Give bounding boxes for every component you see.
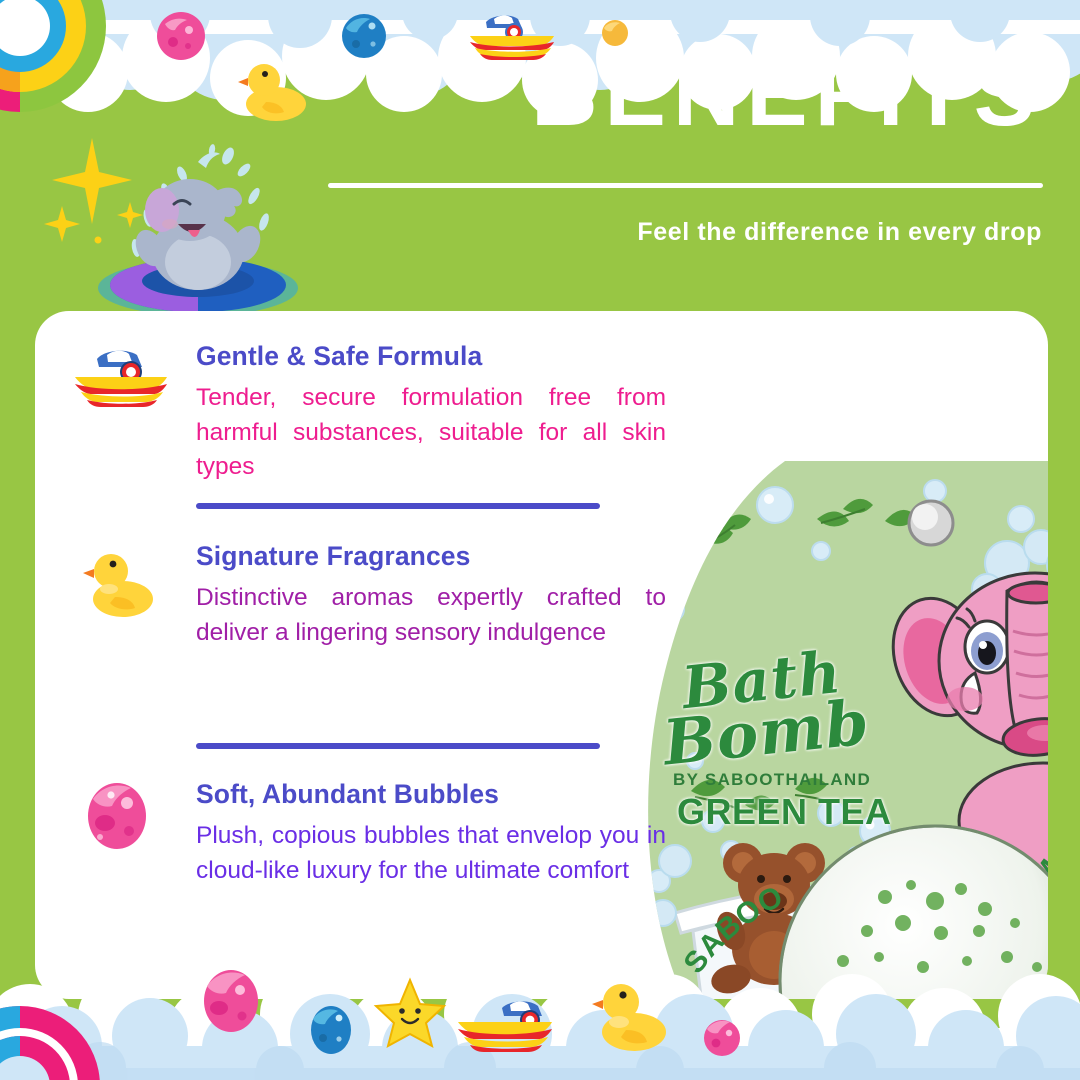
benefit-text-1: Tender, secure formulation free from har… xyxy=(196,381,666,485)
benefit-title-2: Signature Fragrances xyxy=(196,541,666,572)
pink-bath-bomb-icon xyxy=(85,779,185,859)
package-brand-by: BY SABOOTHAILAND xyxy=(673,770,871,790)
benefits-list: Gentle & Safe Formula Tender, secure for… xyxy=(35,311,695,999)
package-variant: GREEN TEA xyxy=(677,791,892,833)
benefit-title-3: Soft, Abundant Bubbles xyxy=(196,779,666,810)
rainbow-pool-ring-icon xyxy=(0,986,140,1080)
benefits-card: SABOO DMADE xyxy=(35,311,1048,999)
product-package-image: SABOO DMADE xyxy=(635,461,1048,999)
blue-bath-bomb-icon xyxy=(308,1005,354,1055)
bottom-cloud-band xyxy=(0,988,1080,1080)
title-divider xyxy=(328,183,1043,188)
benefit-title-1: Gentle & Safe Formula xyxy=(196,341,666,372)
poster-canvas: BENEFITS Feel the difference in every dr… xyxy=(0,0,1080,1080)
toy-boat-icon xyxy=(456,1000,556,1058)
page-title: BENEFITS xyxy=(531,48,1042,140)
benefit-text-2: Distinctive aromas expertly crafted to d… xyxy=(196,581,666,650)
benefit-divider-1 xyxy=(196,503,600,509)
benefit-divider-2 xyxy=(196,743,600,749)
benefit-text-3: Plush, copious bubbles that envelop you … xyxy=(196,819,666,888)
benefit-body-2: Signature Fragrances Distinctive aromas … xyxy=(196,541,666,650)
benefit-body-1: Gentle & Safe Formula Tender, secure for… xyxy=(196,341,666,485)
rubber-duck-icon xyxy=(83,545,183,625)
header: BENEFITS Feel the difference in every dr… xyxy=(0,0,1080,300)
toy-boat-icon xyxy=(71,345,171,425)
pink-bath-bomb-icon xyxy=(702,1018,742,1058)
benefit-body-3: Soft, Abundant Bubbles Plush, copious bu… xyxy=(196,779,666,888)
page-subtitle: Feel the difference in every drop xyxy=(637,218,1042,247)
